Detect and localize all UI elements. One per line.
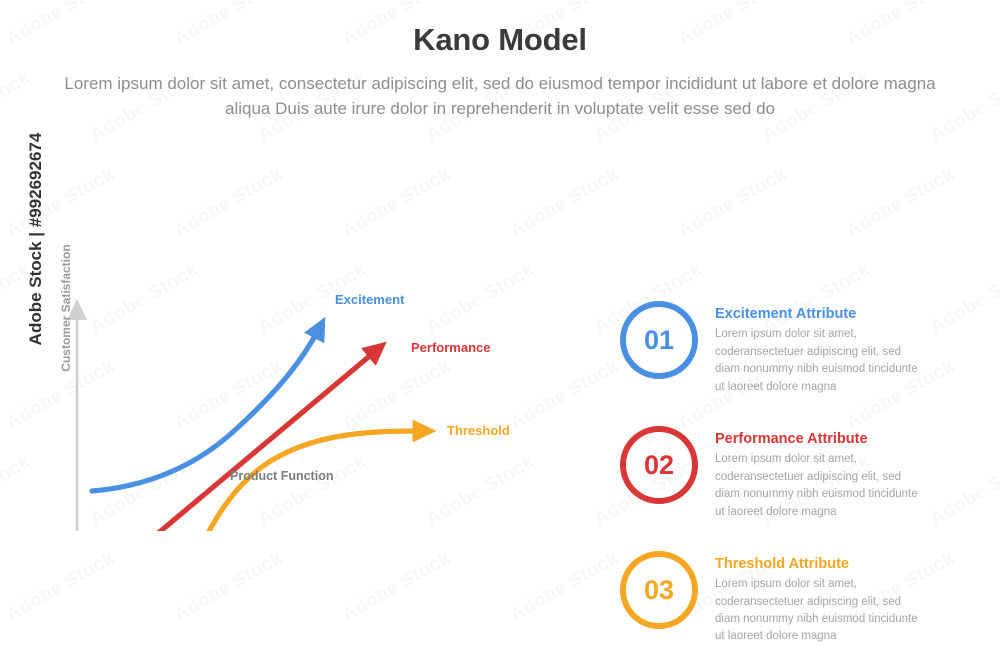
attribute-title: Excitement Attribute (715, 306, 920, 322)
x-axis-label: Product Function (230, 469, 333, 483)
watermark-tile: Adobe Stock (171, 547, 287, 627)
adobe-stock-watermark: Adobe Stock | #992692674 (26, 99, 46, 379)
attribute-description: Lorem ipsum dolor sit amet, coderansecte… (715, 576, 920, 646)
attribute-body: Excitement AttributeLorem ipsum dolor si… (715, 301, 920, 396)
watermark-tile: Adobe Stock (507, 547, 623, 627)
curve-performance (113, 349, 378, 531)
kano-chart: Customer Satisfaction Product Function E… (30, 131, 570, 531)
attribute-description: Lorem ipsum dolor sit amet, coderansecte… (715, 451, 920, 521)
attribute-item[interactable]: 02Performance AttributeLorem ipsum dolor… (620, 426, 980, 521)
watermark-tile: Adobe Stock (675, 163, 791, 243)
chart-axes (67, 299, 510, 531)
watermark-tile: Adobe Stock (339, 547, 455, 627)
y-axis-label: Customer Satisfaction (59, 228, 73, 388)
page-title: Kano Model (0, 22, 1000, 58)
attribute-title: Threshold Attribute (715, 556, 920, 572)
curve-label-excitement: Excitement (335, 292, 404, 307)
attribute-body: Threshold AttributeLorem ipsum dolor sit… (715, 551, 920, 646)
curve-label-performance: Performance (411, 340, 490, 355)
attribute-description: Lorem ipsum dolor sit amet, coderansecte… (715, 326, 920, 396)
attribute-item[interactable]: 03Threshold AttributeLorem ipsum dolor s… (620, 551, 980, 646)
header: Kano Model Lorem ipsum dolor sit amet, c… (0, 0, 1000, 121)
attribute-number-badge: 01 (620, 301, 698, 379)
curve-excitement (92, 327, 320, 491)
attribute-item[interactable]: 01Excitement AttributeLorem ipsum dolor … (620, 301, 980, 396)
attribute-title: Performance Attribute (715, 431, 920, 447)
curve-label-threshold: Threshold (447, 423, 510, 438)
attribute-list: 01Excitement AttributeLorem ipsum dolor … (620, 301, 980, 646)
attribute-body: Performance AttributeLorem ipsum dolor s… (715, 426, 920, 521)
watermark-tile: Adobe Stock (3, 547, 119, 627)
page-subtitle: Lorem ipsum dolor sit amet, consectetur … (45, 72, 955, 121)
attribute-number-badge: 02 (620, 426, 698, 504)
watermark-tile: Adobe Stock (843, 163, 959, 243)
